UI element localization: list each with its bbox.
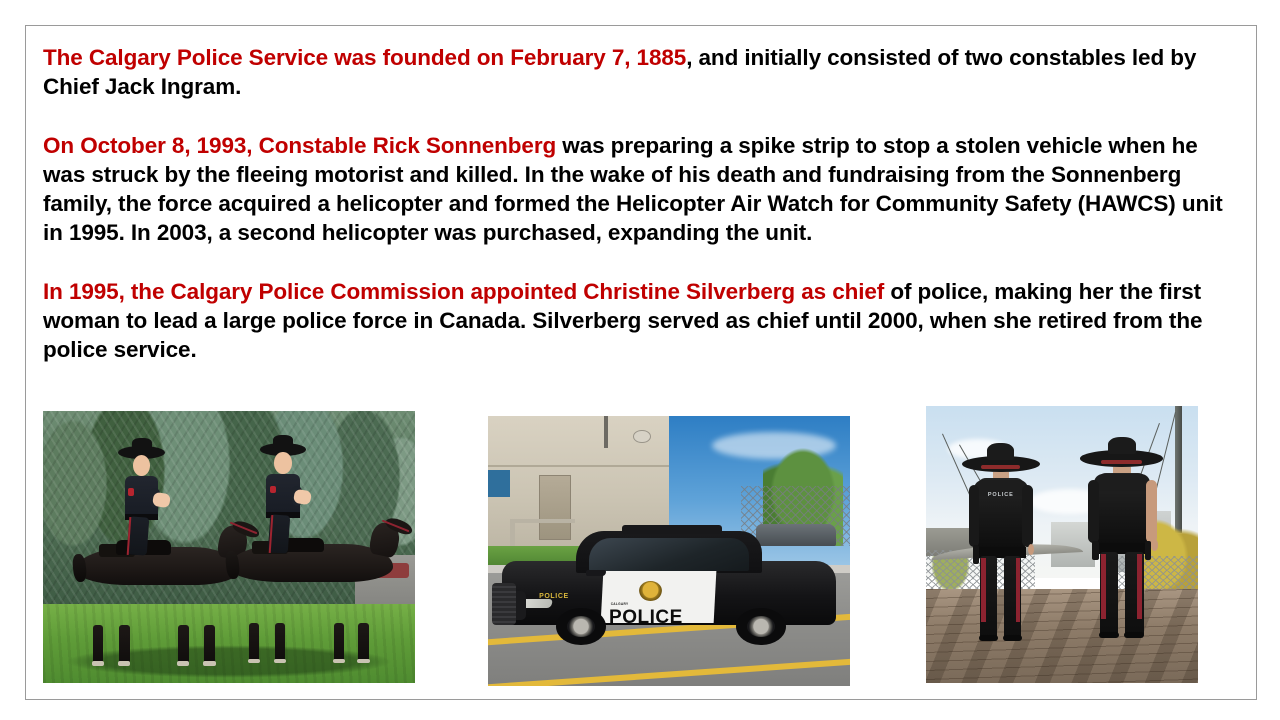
bridge-tower (1175, 406, 1182, 533)
cruiser-side-mirror (586, 570, 606, 576)
officer-right-boot-1 (1099, 632, 1119, 639)
horse-left-hoof-1 (92, 661, 104, 666)
officer-right-hat-crown (1108, 437, 1136, 454)
cruiser-lightbar (622, 525, 722, 534)
horse-left-hoof-2 (118, 661, 130, 666)
officer-right-hand (1151, 539, 1158, 550)
horse-right-leg-1 (249, 623, 260, 664)
police-cruiser: CALGARY POLICE POLICE (502, 519, 835, 643)
officer-left: POLICE (975, 456, 1027, 639)
officer-left-boot-1 (979, 635, 998, 642)
text-content-block: The Calgary Police Service was founded o… (43, 43, 1223, 364)
officer-right-hat-band (1101, 460, 1142, 464)
officer-left-trouser-stripe-1 (981, 558, 986, 622)
officer-left-jacket-label: POLICE (982, 492, 1019, 498)
paragraph-sonnenberg-highlight: On October 8, 1993, Constable Rick Sonne… (43, 133, 556, 158)
building-trim-line (488, 465, 669, 467)
officer-left-boot-2 (1003, 635, 1022, 642)
officer-left-hand (1028, 544, 1034, 555)
officer-right (1095, 450, 1149, 636)
photo-officers-on-bridge-scene: POLICE (926, 406, 1198, 683)
officer-left-hat-band (981, 465, 1020, 469)
horse-left (76, 547, 240, 629)
officer-right-arm-left (1088, 480, 1099, 543)
cruiser-front-wheel (556, 608, 606, 645)
horse-left-leg-4 (204, 625, 215, 666)
cruiser-rear-rim (747, 616, 775, 637)
photo-officers-on-bridge: POLICE (926, 406, 1198, 683)
roof-pole (604, 416, 608, 448)
horse-right (229, 544, 393, 626)
rider-left-hat-crown (132, 438, 152, 450)
cruiser-decal-police: POLICE (609, 608, 716, 622)
cruiser-push-bumper (492, 583, 515, 625)
officer-left-belt-gear (973, 545, 979, 563)
rider-left (125, 476, 158, 552)
horse-left-leg-1 (93, 625, 104, 666)
slide-canvas: The Calgary Police Service was founded o… (25, 25, 1257, 700)
officer-right-shoulders (1094, 474, 1151, 491)
horse-right-hoof-4 (357, 659, 369, 664)
horse-left-hoof-3 (177, 661, 189, 666)
officer-left-hat-crown (987, 443, 1014, 459)
paragraph-silverberg-highlight: In 1995, the Calgary Police Commission a… (43, 279, 884, 304)
horse-right-leg-2 (275, 623, 286, 664)
rider-left-shoulder-patch (128, 488, 134, 496)
officer-right-trouser-stripe-2 (1137, 554, 1142, 619)
officer-right-belt-gear-left (1092, 541, 1099, 560)
officer-right-boot-2 (1124, 632, 1144, 639)
photo-police-cruiser: CALGARY POLICE POLICE (488, 416, 850, 686)
cruiser-rear-wheel (736, 608, 786, 645)
rider-right-hat-crown (273, 435, 293, 447)
photo-mounted-police (43, 411, 415, 683)
satellite-dish-icon (633, 430, 651, 444)
horse-left-hoof-4 (203, 661, 215, 666)
rider-right-shoulder-patch (270, 486, 276, 494)
photo-mounted-police-scene (43, 411, 415, 683)
paragraph-sonnenberg: On October 8, 1993, Constable Rick Sonne… (43, 131, 1223, 247)
officer-right-belt-gear-right (1145, 541, 1152, 560)
building-window (488, 470, 510, 497)
horse-right-hoof-1 (248, 659, 260, 664)
paragraph-silverberg: In 1995, the Calgary Police Commission a… (43, 277, 1223, 364)
officer-left-arm-left (969, 485, 979, 547)
paragraph-founding: The Calgary Police Service was founded o… (43, 43, 1223, 101)
officer-left-legs (980, 556, 1021, 638)
horse-left-leg-2 (119, 625, 130, 666)
cruiser-windows (589, 538, 749, 570)
rider-right-head (274, 452, 291, 473)
officer-right-arm-right (1146, 480, 1157, 543)
horse-left-leg-3 (178, 625, 189, 666)
deck-shadows (926, 589, 1198, 683)
officer-left-trouser-stripe-2 (1016, 558, 1021, 622)
officer-right-legs (1100, 552, 1144, 636)
paragraph-founding-highlight: The Calgary Police Service was founded o… (43, 45, 686, 70)
rider-left-arm (152, 492, 171, 508)
rider-right (266, 474, 299, 550)
horse-right-hoof-2 (274, 659, 286, 664)
horse-right-leg-3 (334, 623, 345, 664)
calgary-police-crest-icon (639, 581, 662, 601)
horse-right-hoof-3 (333, 659, 345, 664)
horse-right-leg-4 (358, 623, 369, 664)
officer-left-arm-right (1022, 485, 1032, 547)
photo-police-cruiser-scene: CALGARY POLICE POLICE (488, 416, 850, 686)
officer-right-trouser-stripe-1 (1101, 554, 1106, 619)
cruiser-front-rim (567, 616, 595, 637)
